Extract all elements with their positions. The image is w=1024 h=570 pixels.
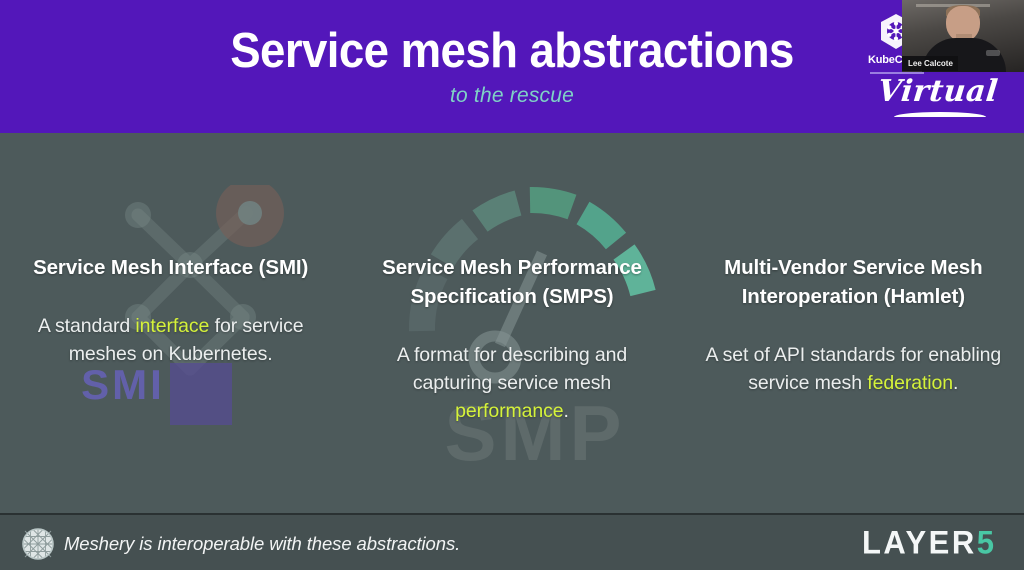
column-smps: Service Mesh Performance Specification (…	[341, 133, 682, 425]
layer5-wordmark: LAYER	[862, 524, 977, 562]
column-heading: Multi-Vendor Service Mesh Interoperation…	[697, 253, 1010, 311]
body-highlight: performance	[455, 400, 563, 422]
body-highlight: interface	[135, 315, 209, 337]
layer5-five-glyph: 5	[977, 524, 994, 562]
column-body: A standard interface for service meshes …	[14, 312, 327, 368]
speaker-video-tile[interactable]: Lee Calcote	[902, 0, 1024, 72]
body-highlight: federation	[867, 372, 953, 394]
virtual-underline	[894, 112, 986, 117]
slide-header: Service mesh abstractions to the rescue	[0, 0, 1024, 133]
shirt-logo	[986, 50, 1000, 56]
body-text-after: .	[564, 400, 569, 422]
page-title: Service mesh abstractions	[36, 22, 988, 80]
layer5-logo[interactable]: LAYER 5	[862, 528, 994, 558]
column-hamlet: Multi-Vendor Service Mesh Interoperation…	[683, 133, 1024, 397]
column-heading: Service Mesh Performance Specification (…	[355, 253, 668, 311]
meshery-sphere-icon	[22, 528, 54, 560]
body-text-before: A standard	[38, 315, 136, 337]
virtual-wordmark: Virtual	[876, 74, 1020, 109]
footer-note: Meshery is interoperable with these abst…	[64, 529, 460, 559]
body-text-after: .	[953, 372, 958, 394]
column-body: A set of API standards for enabling serv…	[697, 341, 1010, 397]
column-body: A format for describing and capturing se…	[355, 341, 668, 425]
body-text-before: A format for describing and capturing se…	[397, 344, 627, 394]
speaker-nameplate: Lee Calcote	[902, 56, 958, 71]
abstraction-columns: Service Mesh Interface (SMI) A standard …	[0, 133, 1024, 513]
column-heading: Service Mesh Interface (SMI)	[14, 253, 327, 282]
column-smi: Service Mesh Interface (SMI) A standard …	[0, 133, 341, 368]
presentation-slide: Service mesh abstractions to the rescue	[0, 0, 1024, 570]
